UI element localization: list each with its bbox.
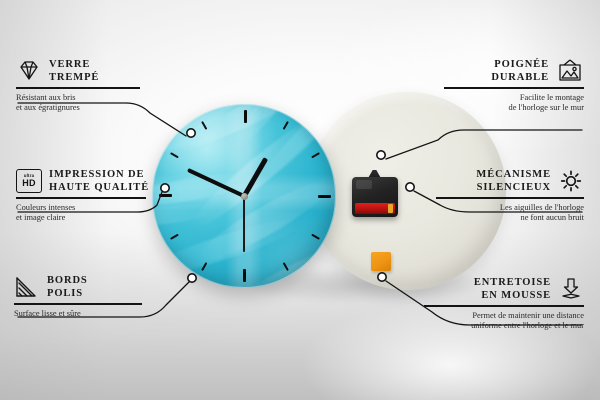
callout-bords-polis: BORDS POLIS Surface lisse et sûre bbox=[14, 274, 154, 319]
callout-rule bbox=[14, 303, 142, 305]
callout-rule bbox=[424, 305, 584, 307]
callout-header: POIGNÉE DURABLE bbox=[444, 58, 584, 84]
callout-rule bbox=[436, 197, 584, 199]
callout-entretoise-en-mousse: ENTRETOISE EN MOUSSE Permet de maintenir… bbox=[424, 276, 584, 332]
product-infographic: VERRE TREMPÉ Résistant aux bris et aux é… bbox=[0, 0, 600, 400]
callout-header: ENTRETOISE EN MOUSSE bbox=[424, 276, 584, 302]
callout-verre-trempe: VERRE TREMPÉ Résistant aux bris et aux é… bbox=[16, 58, 156, 114]
callout-description: Couleurs intenses et image claire bbox=[16, 203, 162, 224]
callout-header: MÉCANISME SILENCIEUX bbox=[436, 168, 584, 194]
callout-rule bbox=[16, 87, 140, 89]
callout-title: IMPRESSION DE HAUTE QUALITÉ bbox=[49, 168, 149, 194]
callout-header: BORDS POLIS bbox=[14, 274, 154, 300]
callout-impression-haute-qualite: ultra HD IMPRESSION DE HAUTE QUALITÉ Cou… bbox=[16, 168, 162, 224]
callout-rule bbox=[444, 87, 584, 89]
callout-title: POIGNÉE DURABLE bbox=[491, 58, 549, 84]
callout-poignee-durable: POIGNÉE DURABLE Facilite le montage de l… bbox=[444, 58, 584, 114]
callout-mecanisme-silencieux: MÉCANISME SILENCIEUX Les aiguilles de l'… bbox=[436, 168, 584, 224]
battery-terminal bbox=[388, 204, 393, 213]
battery bbox=[355, 203, 395, 214]
clock-face bbox=[152, 104, 336, 288]
foam-spacer-arrow-icon bbox=[558, 277, 584, 301]
polished-edge-icon bbox=[14, 275, 40, 299]
picture-hanger-icon bbox=[556, 59, 584, 83]
callout-description: Résistant aux bris et aux égratignures bbox=[16, 93, 156, 114]
gear-icon bbox=[558, 169, 584, 193]
diamond-icon bbox=[16, 59, 42, 83]
callout-header: ultra HD IMPRESSION DE HAUTE QUALITÉ bbox=[16, 168, 162, 194]
callout-title: MÉCANISME SILENCIEUX bbox=[476, 168, 551, 194]
callout-description: Facilite le montage de l'horloge sur le … bbox=[444, 93, 584, 114]
callout-description: Permet de maintenir une distance uniform… bbox=[424, 311, 584, 332]
clock-face-rim bbox=[152, 104, 336, 288]
callout-title: VERRE TREMPÉ bbox=[49, 58, 99, 84]
callout-rule bbox=[16, 197, 146, 199]
callout-title: BORDS POLIS bbox=[47, 274, 88, 300]
callout-description: Les aiguilles de l'horloge ne font aucun… bbox=[436, 203, 584, 224]
movement-highlight bbox=[356, 180, 372, 189]
callout-header: VERRE TREMPÉ bbox=[16, 58, 156, 84]
callout-description: Surface lisse et sûre bbox=[14, 309, 154, 320]
foam-spacer bbox=[371, 252, 391, 271]
ultra-hd-badge-icon: ultra HD bbox=[16, 169, 42, 193]
callout-title: ENTRETOISE EN MOUSSE bbox=[474, 276, 551, 302]
